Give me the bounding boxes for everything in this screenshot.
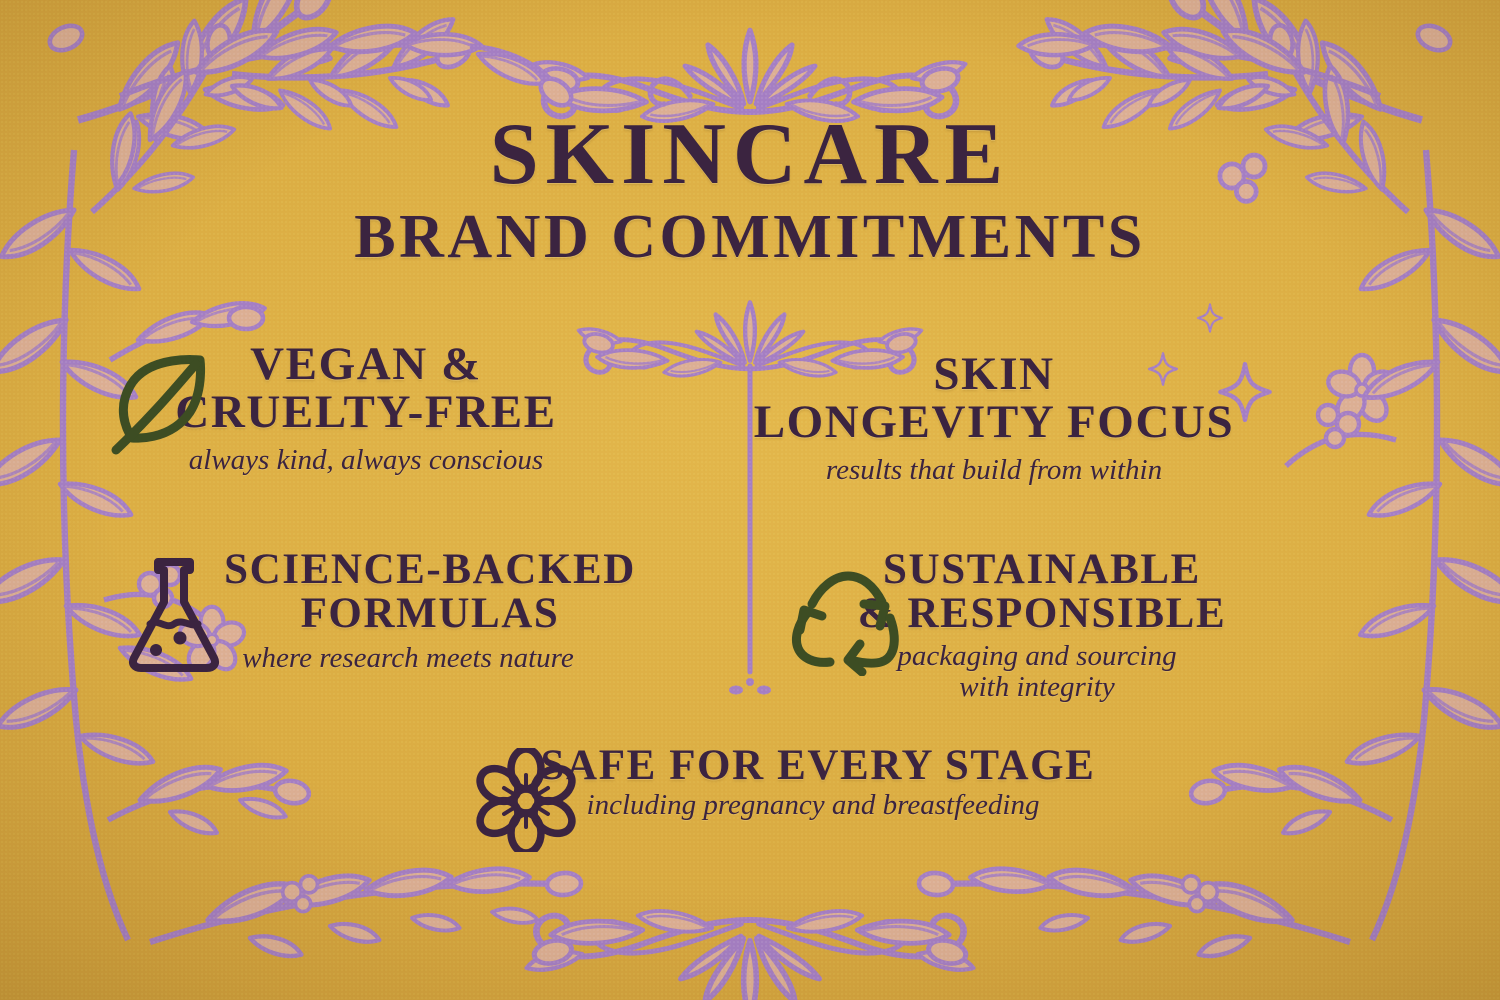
commitment-item-science: SCIENCE-BACKED FORMULAS where research m… xyxy=(114,548,654,674)
commitment-item-safe: SAFE FOR EVERY STAGE including pregnancy… xyxy=(374,744,1164,822)
commitment-item-sustainable: SUSTAINABLE & RESPONSIBLE packaging and … xyxy=(702,548,1282,703)
page-title: SKINCARE xyxy=(0,112,1500,198)
flask-icon xyxy=(122,554,226,679)
page-subtitle: BRAND COMMITMENTS xyxy=(0,206,1500,268)
leaf-icon xyxy=(104,346,216,463)
recycle-icon xyxy=(786,564,906,681)
poster-title-block: SKINCARE BRAND COMMITMENTS xyxy=(0,112,1500,268)
commitment-item-vegan: VEGAN & CRUELTY-FREE always kind, always… xyxy=(116,340,616,476)
commitment-heading: SKIN LONGEVITY FOCUS xyxy=(714,350,1274,447)
commitment-item-skin-longevity: SKIN LONGEVITY FOCUS results that build … xyxy=(714,350,1274,486)
commitment-text-skin-longevity: SKIN LONGEVITY FOCUS results that build … xyxy=(714,350,1274,486)
poster-content: SKINCARE BRAND COMMITMENTS VEGAN & CRUEL… xyxy=(0,0,1500,1000)
commitment-subtitle: results that build from within xyxy=(714,455,1274,486)
flower-icon xyxy=(474,748,578,857)
poster-canvas: SKINCARE BRAND COMMITMENTS VEGAN & CRUEL… xyxy=(0,0,1500,1000)
